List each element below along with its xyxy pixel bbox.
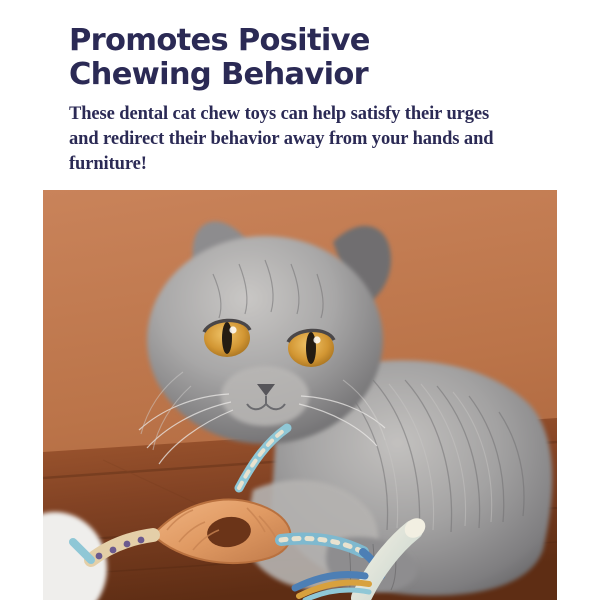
promo-card: Promotes Positive Chewing Behavior These… bbox=[0, 0, 600, 600]
cat-right-eye bbox=[288, 329, 334, 367]
body-paragraph: These dental cat chew toys can help sati… bbox=[69, 102, 507, 176]
cat-left-eye bbox=[204, 319, 250, 357]
text-block: Promotes Positive Chewing Behavior These… bbox=[69, 24, 519, 176]
page-title: Promotes Positive Chewing Behavior bbox=[69, 24, 519, 92]
product-photo bbox=[43, 190, 557, 600]
cat-photo-illustration bbox=[43, 190, 557, 600]
